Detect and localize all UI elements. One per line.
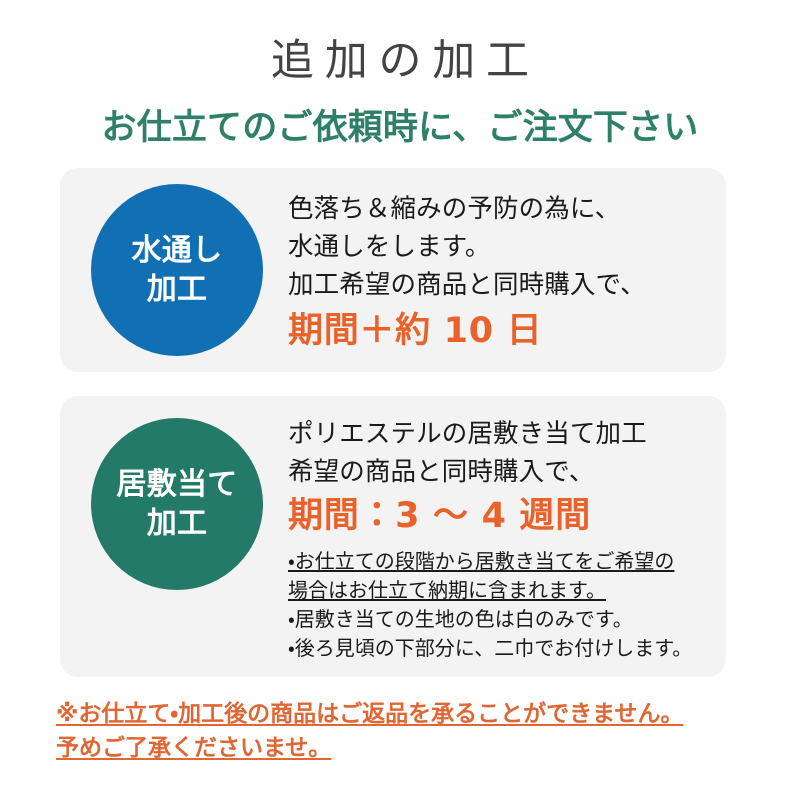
badge-label-line2: 加工 <box>147 270 208 309</box>
card-mizutoshi: 水通し 加工 色落ち＆縮みの予防の為に、 水通しをします。 加工希望の商品と同時… <box>60 168 726 372</box>
card-body-ishikiate: ポリエステルの居敷き当て加工 希望の商品と同時購入で、 期間：3 ～ 4 週間 … <box>288 415 710 663</box>
body-line: 希望の商品と同時購入で、 <box>288 453 710 491</box>
lead-time-highlight: 期間：3 ～ 4 週間 <box>288 493 710 539</box>
card-ishikiate: 居敷当て 加工 ポリエステルの居敷き当て加工 希望の商品と同時購入で、 期間：3… <box>60 396 726 677</box>
note-item: ・お仕立ての段階から居敷き当てをご希望の <box>288 547 710 576</box>
note-item: ・居敷き当ての生地の色は白のみです。 <box>288 605 710 634</box>
note-text: ・後ろ見頃の下部分に、二巾でお付けします。 <box>288 636 692 660</box>
footer-line: 予めご了承くださいませ。 <box>56 731 756 765</box>
promo-page: 追加の加工 お仕立てのご依頼時に、ご注文下さい 水通し 加工 色落ち＆縮みの予防… <box>0 0 800 800</box>
footer-line: ※お仕立て・加工後の商品はご返品を承ることができません。 <box>56 697 756 731</box>
note-item: ・後ろ見頃の下部分に、二巾でお付けします。 <box>288 634 710 663</box>
page-subtitle: お仕立てのご依頼時に、ご注文下さい <box>0 107 800 151</box>
badge-mizutoshi: 水通し 加工 <box>91 184 263 356</box>
body-line: 色落ち＆縮みの予防の為に、 <box>288 190 710 228</box>
note-text: 場合はお仕立て納期に含まれます。 <box>288 578 606 602</box>
card-body-mizutoshi: 色落ち＆縮みの予防の為に、 水通しをします。 加工希望の商品と同時購入で、 期間… <box>288 190 710 354</box>
badge-label-line1: 居敷当て <box>116 465 237 504</box>
page-title: 追加の加工 <box>0 36 800 88</box>
badge-ishikiate: 居敷当て 加工 <box>91 418 263 590</box>
note-item: 場合はお仕立て納期に含まれます。 <box>288 576 710 605</box>
note-list: ・お仕立ての段階から居敷き当てをご希望の 場合はお仕立て納期に含まれます。 ・居… <box>288 547 710 663</box>
body-line: 加工希望の商品と同時購入で、 <box>288 266 710 304</box>
note-text: ・居敷き当ての生地の色は白のみです。 <box>288 607 633 631</box>
footer-disclaimer: ※お仕立て・加工後の商品はご返品を承ることができません。 予めご了承くださいませ… <box>56 697 756 765</box>
body-line: 水通しをします。 <box>288 228 710 266</box>
badge-label-line1: 水通し <box>132 231 223 270</box>
badge-label-line2: 加工 <box>147 504 208 543</box>
note-text: ・お仕立ての段階から居敷き当てをご希望の <box>288 549 674 573</box>
body-line: ポリエステルの居敷き当て加工 <box>288 415 710 453</box>
lead-time-highlight: 期間＋約 10 日 <box>288 308 710 354</box>
